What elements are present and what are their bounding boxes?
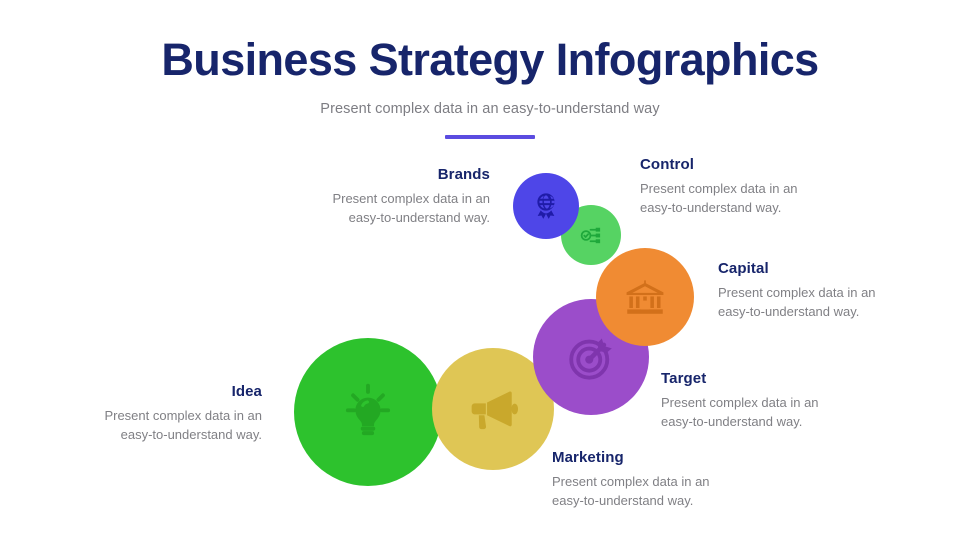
checklist-settings-icon [578, 222, 605, 249]
circle-idea[interactable] [294, 338, 442, 486]
item-description-marketing: Present complex data in an easy-to-under… [552, 473, 782, 511]
accent-divider [445, 135, 535, 139]
item-text-control: Control Present complex data in an easy-… [640, 156, 870, 218]
item-label-target: Target [661, 370, 891, 387]
target-dart-icon [563, 329, 619, 385]
page-title: Business Strategy Infographics [0, 36, 980, 85]
page-subtitle: Present complex data in an easy-to-under… [0, 101, 980, 117]
item-label-capital: Capital [718, 260, 948, 277]
item-text-marketing: Marketing Present complex data in an eas… [552, 449, 782, 511]
item-description-control: Present complex data in an easy-to-under… [640, 180, 870, 218]
item-label-marketing: Marketing [552, 449, 782, 466]
globe-award-icon [531, 191, 561, 221]
item-label-idea: Idea [42, 383, 262, 400]
item-text-idea: Idea Present complex data in an easy-to-… [42, 383, 262, 445]
item-description-target: Present complex data in an easy-to-under… [661, 394, 891, 432]
item-text-brands: Brands Present complex data in an easy-t… [272, 166, 490, 228]
item-description-brands: Present complex data in an easy-to-under… [272, 190, 490, 228]
item-label-control: Control [640, 156, 870, 173]
circle-capital[interactable] [596, 248, 694, 346]
item-text-capital: Capital Present complex data in an easy-… [718, 260, 948, 322]
item-description-capital: Present complex data in an easy-to-under… [718, 284, 948, 322]
circle-brands[interactable] [513, 173, 579, 239]
lightbulb-icon [337, 381, 399, 443]
item-label-brands: Brands [272, 166, 490, 183]
item-description-idea: Present complex data in an easy-to-under… [42, 407, 262, 445]
megaphone-icon [465, 381, 521, 437]
bank-building-icon [623, 275, 667, 319]
infographic-slide: Business Strategy Infographics Present c… [0, 0, 980, 551]
slide-header: Business Strategy Infographics Present c… [0, 36, 980, 139]
item-text-target: Target Present complex data in an easy-t… [661, 370, 891, 432]
